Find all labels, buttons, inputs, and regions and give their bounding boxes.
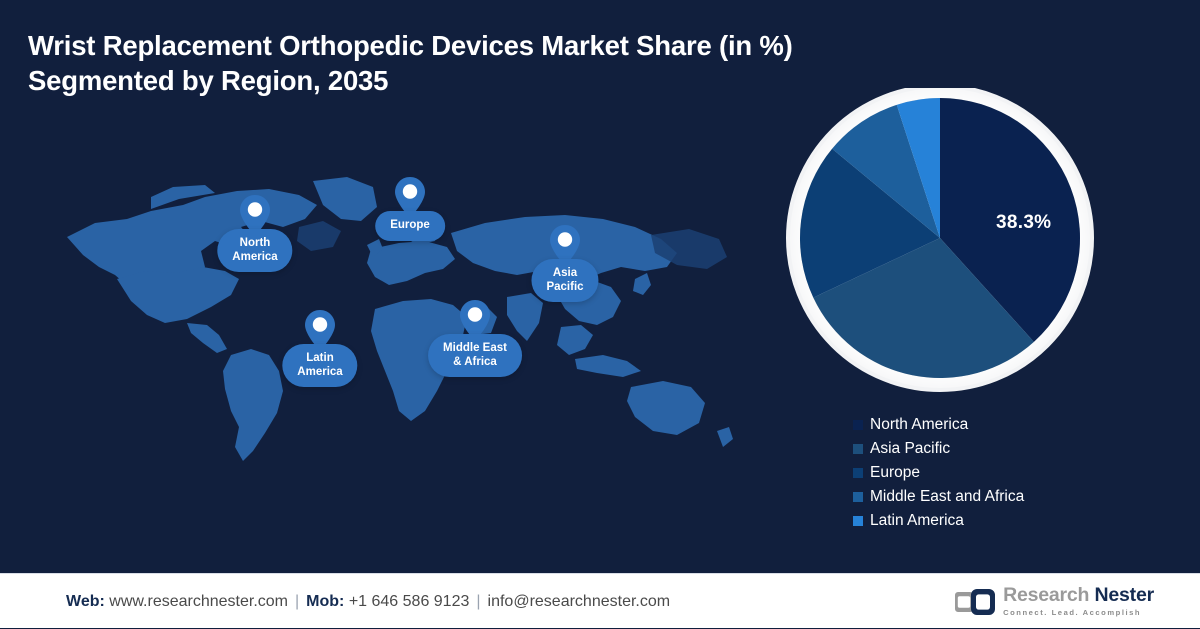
legend-item[interactable]: Latin America (853, 509, 1024, 533)
legend-swatch-icon (853, 492, 863, 502)
logo-name-part1: Research (1003, 584, 1094, 606)
logo-tagline: Connect. Lead. Accomplish (1003, 609, 1154, 617)
legend-swatch-icon (853, 468, 863, 478)
legend-label: Asia Pacific (870, 441, 950, 457)
legend-item[interactable]: Middle East and Africa (853, 485, 1024, 509)
map-label-middle-east-africa: Middle East & Africa (428, 334, 522, 377)
footer-contact-info: Web: www.researchnester.com|Mob: +1 646 … (66, 574, 670, 629)
legend-swatch-icon (853, 420, 863, 430)
legend-swatch-icon (853, 444, 863, 454)
legend-item[interactable]: Asia Pacific (853, 437, 1024, 461)
legend-label: Middle East and Africa (870, 489, 1024, 505)
legend-item[interactable]: North America (853, 413, 1024, 437)
legend-label: Europe (870, 465, 920, 481)
logo-name: Research Nester (1003, 586, 1154, 606)
interlocking-links-icon (953, 589, 995, 615)
map-label-asia-pacific: Asia Pacific (531, 259, 598, 302)
world-map: North America Europe Asia Pacific Middle… (55, 175, 745, 465)
legend-item[interactable]: Europe (853, 461, 1024, 485)
footer-separator-2: | (469, 593, 487, 611)
pie-chart-svg (760, 88, 1120, 393)
pie-slices (800, 98, 1080, 378)
footer-mob-label: Mob: (306, 593, 344, 611)
footer-web-value[interactable]: www.researchnester.com (109, 593, 288, 611)
map-label-europe: Europe (375, 211, 445, 241)
legend-label: Latin America (870, 513, 964, 529)
footer-bar: Web: www.researchnester.com|Mob: +1 646 … (0, 573, 1200, 628)
footer-web-label: Web: (66, 593, 105, 611)
legend-swatch-icon (853, 516, 863, 526)
logo-wordmark: Research Nester Connect. Lead. Accomplis… (1003, 586, 1154, 616)
footer-email[interactable]: info@researchnester.com (488, 593, 671, 611)
footer-separator-1: | (288, 593, 306, 611)
infographic-canvas: Wrist Replacement Orthopedic Devices Mar… (0, 0, 1200, 573)
map-label-north-america: North America (217, 229, 292, 272)
footer-mob-value: +1 646 586 9123 (349, 593, 470, 611)
logo-name-part2: Nester (1095, 584, 1155, 606)
map-label-latin-america: Latin America (282, 344, 357, 387)
pie-slice-value-north-america: 38.3% (996, 212, 1051, 234)
brand-logo[interactable]: Research Nester Connect. Lead. Accomplis… (953, 574, 1154, 629)
legend-label: North America (870, 417, 968, 433)
pie-chart (760, 88, 1120, 393)
chart-legend: North AmericaAsia PacificEuropeMiddle Ea… (853, 413, 1024, 533)
